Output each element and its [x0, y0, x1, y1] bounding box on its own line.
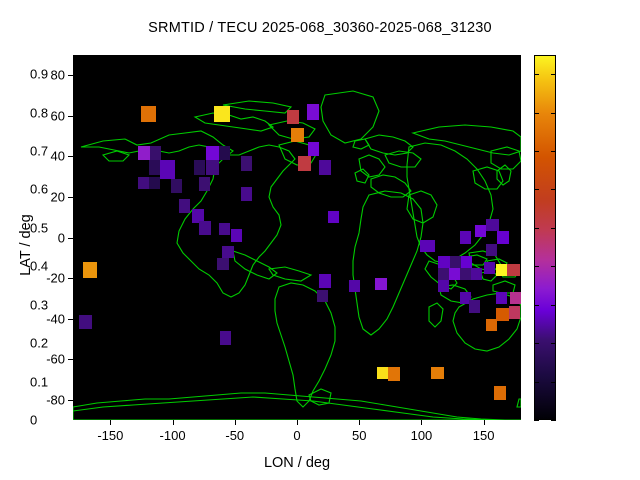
y-axis-tick [68, 197, 73, 198]
colorbar-tick-label: 0.4 [30, 259, 48, 274]
x-axis-tick-label: -150 [97, 428, 123, 443]
x-axis-tick [297, 420, 298, 425]
colorbar-tick [551, 228, 556, 229]
colorbar-tick-label: 0.7 [30, 144, 48, 159]
world-coastline-map [73, 55, 521, 420]
colorbar-tick-label: 0.5 [30, 220, 48, 235]
colorbar-tick-label: 0 [30, 413, 37, 428]
colorbar-tick [534, 189, 539, 190]
y-axis-tick [68, 116, 73, 117]
x-axis-tick [235, 420, 236, 425]
colorbar-tick [534, 228, 539, 229]
colorbar-tick [551, 113, 556, 114]
y-axis-tick [68, 359, 73, 360]
colorbar-gradient [534, 55, 556, 420]
colorbar-tick [534, 266, 539, 267]
colorbar-tick [551, 420, 556, 421]
colorbar-tick [551, 189, 556, 190]
colorbar-tick [551, 74, 556, 75]
plot-area [73, 55, 521, 420]
x-axis-tick [173, 420, 174, 425]
x-axis-tick-label: 100 [411, 428, 433, 443]
colorbar-tick [551, 343, 556, 344]
colorbar-tick-label: 0.8 [30, 105, 48, 120]
colorbar-tick [534, 420, 539, 421]
x-axis-tick-label: 0 [293, 428, 300, 443]
y-axis-tick [68, 156, 73, 157]
colorbar-tick [551, 382, 556, 383]
x-axis-tick-label: -50 [225, 428, 244, 443]
y-axis-tick [68, 75, 73, 76]
colorbar-tick-label: 0.2 [30, 336, 48, 351]
colorbar-tick [534, 343, 539, 344]
colorbar-tick-label: 0.6 [30, 182, 48, 197]
y-axis-tick [68, 278, 73, 279]
colorbar-tick [534, 74, 539, 75]
colorbar-tick [534, 113, 539, 114]
x-axis-tick-label: 50 [352, 428, 366, 443]
y-axis-tick [68, 238, 73, 239]
colorbar-tick [534, 305, 539, 306]
y-axis-tick [68, 400, 73, 401]
colorbar-tick-label: 0.1 [30, 374, 48, 389]
colorbar-tick [551, 151, 556, 152]
x-axis-tick [421, 420, 422, 425]
colorbar-tick [534, 382, 539, 383]
figure-title: SRMTID / TECU 2025-068_30360-2025-068_31… [0, 20, 640, 36]
colorbar-tick [551, 305, 556, 306]
x-axis-title: LON / deg [73, 455, 521, 471]
x-axis-tick [359, 420, 360, 425]
x-axis-tick [484, 420, 485, 425]
y-axis-tick-label: -60 [27, 352, 65, 367]
colorbar-tick [551, 266, 556, 267]
colorbar-tick-label: 0.9 [30, 67, 48, 82]
y-axis-tick [68, 319, 73, 320]
y-axis-tick-label: -80 [27, 392, 65, 407]
x-axis-tick [110, 420, 111, 425]
colorbar-tick-label: 0.3 [30, 297, 48, 312]
x-axis-tick-label: -100 [160, 428, 186, 443]
x-axis-tick-label: 150 [473, 428, 495, 443]
colorbar [534, 55, 556, 420]
colorbar-tick [534, 151, 539, 152]
